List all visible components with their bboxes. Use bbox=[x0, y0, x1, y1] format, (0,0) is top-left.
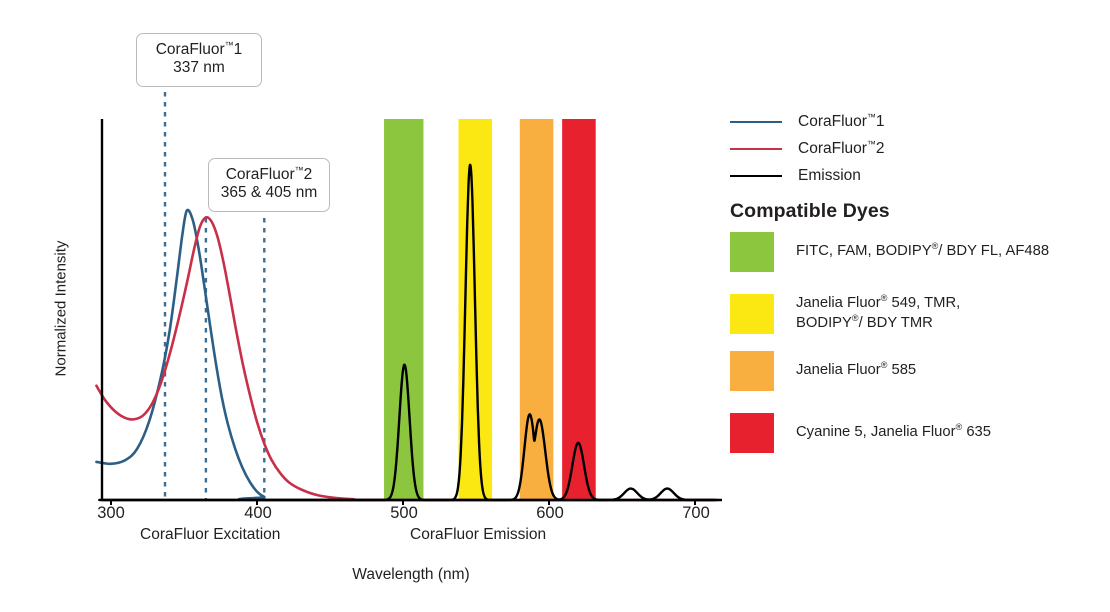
region-label-excitation: CoraFluor Excitation bbox=[140, 526, 280, 544]
dye-swatch-orange bbox=[730, 351, 774, 391]
dye-label-orange: Janelia Fluor® 585 bbox=[796, 361, 916, 381]
callout-corafluor-1: CoraFluor™1 337 nm bbox=[136, 33, 262, 87]
region-label-emission: CoraFluor Emission bbox=[410, 526, 546, 544]
dye-row: Cyanine 5, Janelia Fluor® 635 bbox=[730, 413, 1102, 453]
legend-label-corafluor-1: CoraFluor™1 bbox=[798, 113, 885, 131]
legend-item: CoraFluor™2 bbox=[730, 135, 1100, 162]
x-axis-title: Wavelength (nm) bbox=[0, 566, 822, 584]
dye-label-red: Cyanine 5, Janelia Fluor® 635 bbox=[796, 423, 991, 443]
x-tick-600: 600 bbox=[520, 504, 580, 523]
x-tick-400: 400 bbox=[228, 504, 288, 523]
dye-label-green: FITC, FAM, BODIPY®/ BDY FL, AF488 bbox=[796, 242, 1049, 262]
compatible-dyes-heading: Compatible Dyes bbox=[730, 200, 890, 223]
spectra-figure: CoraFluor™1 337 nm CoraFluor™2 365 & 405… bbox=[0, 0, 1110, 612]
legend-item: CoraFluor™1 bbox=[730, 108, 1100, 135]
callout-cf1-line2: 337 nm bbox=[147, 59, 251, 77]
dye-row: Janelia Fluor® 585 bbox=[730, 351, 1102, 391]
compatible-dyes-list: FITC, FAM, BODIPY®/ BDY FL, AF488 Janeli… bbox=[730, 232, 1102, 471]
x-tick-500: 500 bbox=[374, 504, 434, 523]
callout-corafluor-2: CoraFluor™2 365 & 405 nm bbox=[208, 158, 330, 212]
green-band bbox=[384, 119, 423, 500]
dye-swatch-red bbox=[730, 413, 774, 453]
callout-cf2-line2: 365 & 405 nm bbox=[219, 184, 319, 202]
dye-row: Janelia Fluor® 549, TMR, BODIPY®/ BDY TM… bbox=[730, 294, 1102, 334]
legend-label-corafluor-2: CoraFluor™2 bbox=[798, 140, 885, 158]
y-axis-label: Normalized Intensity bbox=[53, 214, 70, 404]
legend-label-emission: Emission bbox=[798, 167, 861, 185]
dye-row: FITC, FAM, BODIPY®/ BDY FL, AF488 bbox=[730, 232, 1102, 272]
legend-swatch-line-emission bbox=[730, 175, 782, 177]
x-tick-700: 700 bbox=[666, 504, 726, 523]
dye-swatch-green bbox=[730, 232, 774, 272]
callout-cf2-line1: CoraFluor™2 bbox=[219, 166, 319, 184]
callout-cf1-line1: CoraFluor™1 bbox=[147, 41, 251, 59]
dye-swatch-yellow bbox=[730, 294, 774, 334]
series-legend: CoraFluor™1 CoraFluor™2 Emission bbox=[730, 108, 1100, 189]
x-tick-300: 300 bbox=[81, 504, 141, 523]
legend-swatch-line-corafluor-1 bbox=[730, 121, 782, 123]
legend-swatch-line-corafluor-2 bbox=[730, 148, 782, 150]
legend-item: Emission bbox=[730, 162, 1100, 189]
dye-label-yellow: Janelia Fluor® 549, TMR, BODIPY®/ BDY TM… bbox=[796, 294, 960, 333]
